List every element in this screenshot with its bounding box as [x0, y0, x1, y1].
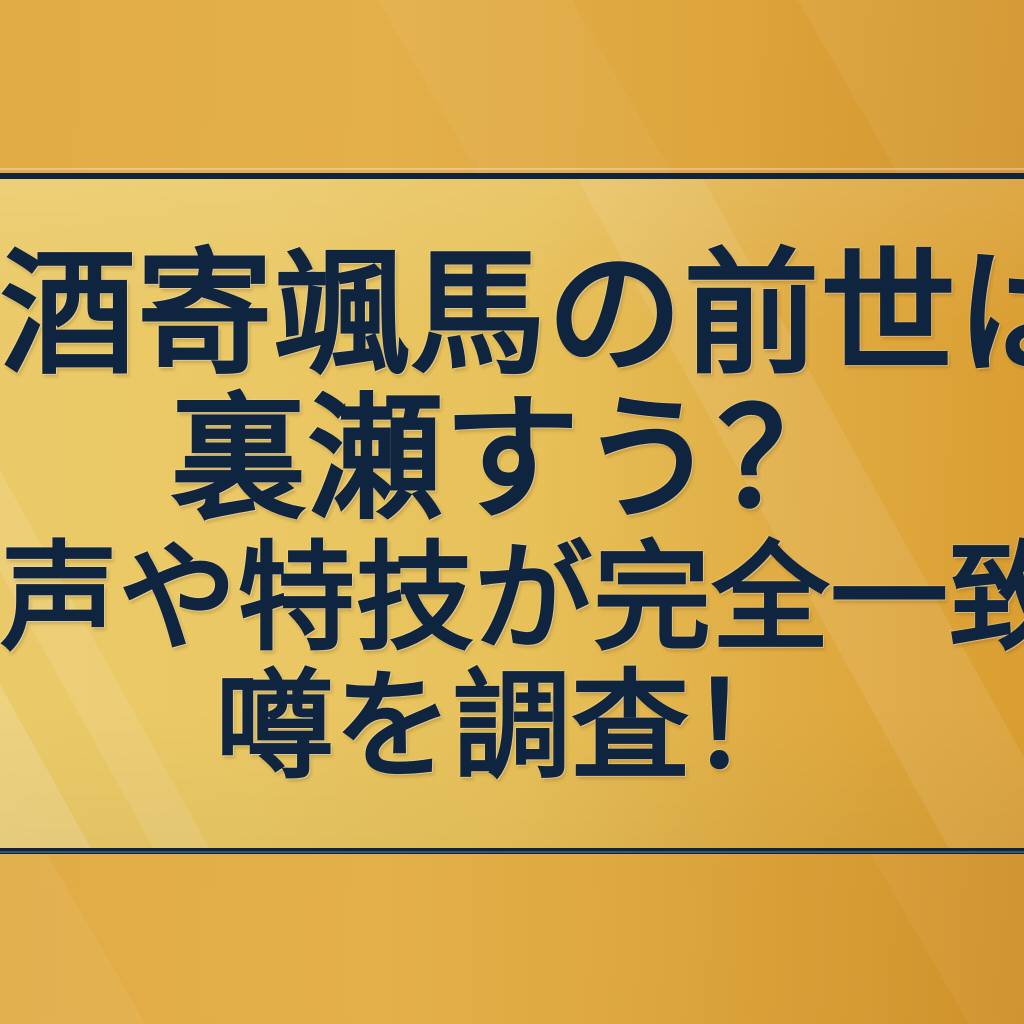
headline-line-2: 裏瀬すう？ く: [0, 390, 1024, 529]
headline-banner: 酒寄颯馬の前世は 裏瀬すう？ く 声や特技が完全一致の 噂を調査！: [0, 173, 1024, 854]
headline-line-3: 声や特技が完全一致の: [0, 539, 1024, 659]
headline-text-block: 酒寄颯馬の前世は 裏瀬すう？ く 声や特技が完全一致の 噂を調査！: [0, 179, 1024, 848]
headline-line-2-text: 裏瀬すう？: [170, 383, 853, 535]
headline-line-1: 酒寄颯馬の前世は: [0, 245, 1024, 384]
headline-line-4: 噂を調査！: [0, 667, 1024, 787]
thumbnail-canvas: 酒寄颯馬の前世は 裏瀬すう？ く 声や特技が完全一致の 噂を調査！: [0, 0, 1024, 1024]
clipped-glyph-fragment: く: [1020, 424, 1024, 554]
